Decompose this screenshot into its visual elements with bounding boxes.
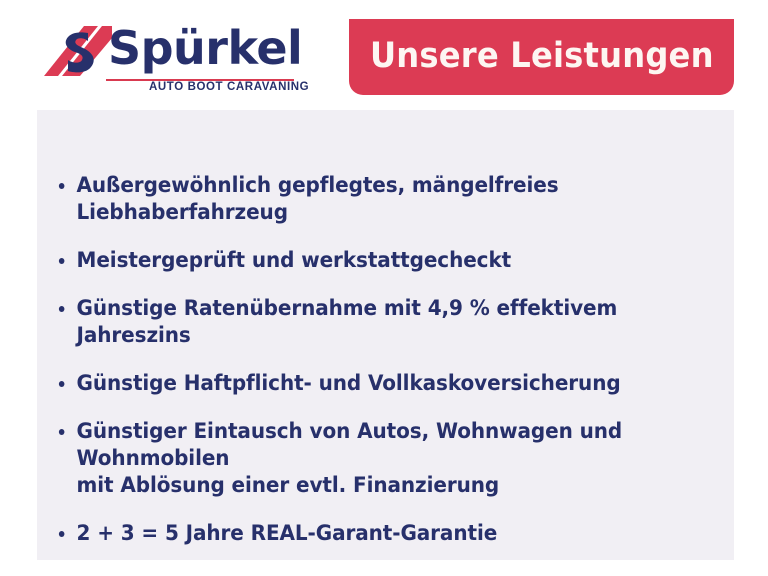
brand-wordmark: Spürkel: [108, 18, 302, 78]
list-item-text: Meistergeprüft und werkstattgecheckt: [77, 248, 512, 273]
list-item-text-line2: mit Ablösung einer evtl. Finanzierung: [77, 472, 681, 499]
headline-banner: Unsere Leistungen: [349, 19, 734, 95]
services-panel: Außergewöhnlich gepflegtes, mängelfreies…: [37, 110, 734, 560]
list-item: Günstiger Eintausch von Autos, Wohnwagen…: [57, 418, 680, 499]
list-item-text: 2 + 3 = 5 Jahre REAL-Garant-Garantie: [77, 521, 498, 546]
brand-tagline: AUTO BOOT CARAVANING: [149, 81, 309, 93]
list-item-text: Günstige Ratenübernahme mit 4,9 % effekt…: [77, 296, 618, 348]
list-item-text: Außergewöhnlich gepflegtes, mängelfreies…: [77, 173, 559, 225]
list-item: Günstige Ratenübernahme mit 4,9 % effekt…: [57, 295, 680, 349]
list-item: Meistergeprüft und werkstattgecheckt: [57, 247, 680, 274]
services-list: Außergewöhnlich gepflegtes, mängelfreies…: [57, 172, 727, 547]
spuerkel-s-arrow-mark-icon: [44, 24, 112, 80]
headline-title: Unsere Leistungen: [370, 39, 714, 76]
list-item: Außergewöhnlich gepflegtes, mängelfreies…: [57, 172, 680, 226]
slide-header: Spürkel AUTO BOOT CARAVANING Unsere Leis…: [0, 0, 768, 110]
list-item: 2 + 3 = 5 Jahre REAL-Garant-Garantie: [57, 520, 680, 547]
list-item: Günstige Haftpflicht- und Vollkaskoversi…: [57, 370, 680, 397]
services-slide: Spürkel AUTO BOOT CARAVANING Unsere Leis…: [0, 0, 768, 576]
brand-logo: Spürkel AUTO BOOT CARAVANING: [44, 22, 294, 94]
list-item-text: Günstiger Eintausch von Autos, Wohnwagen…: [77, 419, 623, 471]
list-item-text: Günstige Haftpflicht- und Vollkaskoversi…: [77, 371, 621, 396]
